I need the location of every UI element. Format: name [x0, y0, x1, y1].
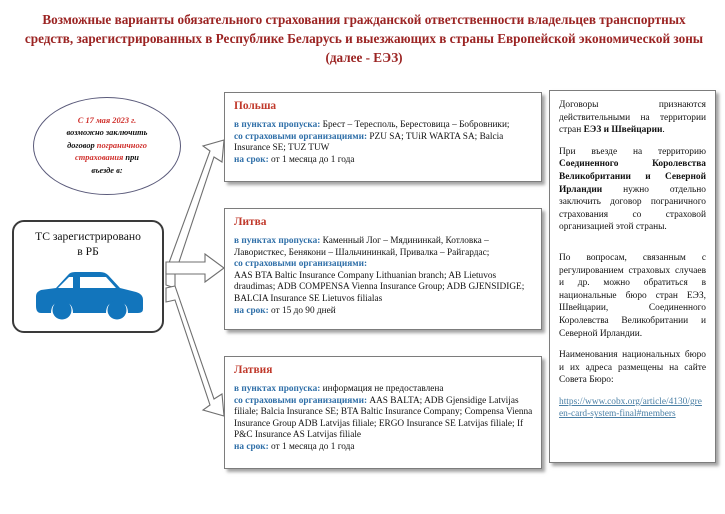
poland-label-term: на срок: [234, 155, 269, 165]
vehicle-registered-box: ТС зарегистрировано в РБ [12, 220, 164, 333]
vehicle-box-label: ТС зарегистрировано в РБ [14, 222, 162, 259]
condition-ellipse: С 17 мая 2023 г. возможно заключить дого… [33, 97, 181, 195]
condition-ellipse-text: С 17 мая 2023 г. возможно заключить дого… [47, 115, 167, 178]
poland-value-crossings: Брест – Тересполь, Берестовица – Бобровн… [320, 120, 509, 130]
vehicle-label-line-1: ТС зарегистрировано [35, 230, 141, 243]
latvia-value-term: от 1 месяца до 1 года [269, 442, 355, 452]
ellipse-line-2: возможно заключить [67, 128, 148, 137]
note-1-text-b: ЕЭЗ и Швейцарии [584, 125, 663, 135]
ellipse-line-3b: пограничного [97, 141, 147, 150]
page-title: Возможные варианты обязательного страхов… [18, 10, 710, 67]
lithuania-value-insurers: AAS BTA Baltic Insurance Company Lithuan… [234, 271, 524, 304]
lithuania-label-term: на срок: [234, 306, 269, 316]
note-paragraph-4: Наименования национальных бюро и их адре… [559, 349, 706, 387]
country-box-latvia: Латвия в пунктах пропуска: информация не… [224, 356, 542, 469]
country-title-latvia: Латвия [234, 364, 533, 376]
council-bureau-link[interactable]: https://www.cobx.org/article/4130/green-… [559, 397, 702, 420]
ellipse-line-1: С 17 мая 2023 г. [78, 116, 136, 125]
poland-value-term: от 1 месяца до 1 года [269, 155, 355, 165]
note-paragraph-link: https://www.cobx.org/article/4130/green-… [559, 396, 706, 421]
country-box-poland: Польша в пунктах пропуска: Брест – Терес… [224, 92, 542, 182]
latvia-value-crossings: информация не предоставлена [320, 384, 443, 394]
lithuania-label-crossings: в пунктах пропуска: [234, 236, 320, 246]
arrow-to-lithuania [166, 254, 224, 282]
notes-panel: Договоры признаются действительными на т… [549, 90, 716, 463]
country-body-lithuania: в пунктах пропуска: Каменный Лог – Мядин… [234, 236, 533, 317]
lithuania-label-insurers: со страховыми организациями: [234, 259, 367, 269]
arrow-to-latvia [166, 286, 224, 416]
lithuania-value-term: от 15 до 90 дней [269, 306, 336, 316]
vehicle-label-line-2: в РБ [77, 245, 98, 258]
note-1-text-c: . [662, 125, 664, 135]
car-icon [28, 266, 150, 324]
note-paragraph-2: При въезде на территорию Соединенного Ко… [559, 146, 706, 234]
country-box-lithuania: Литва в пунктах пропуска: Каменный Лог –… [224, 208, 542, 330]
ellipse-line-4a: страхования [75, 153, 123, 162]
country-title-lithuania: Литва [234, 216, 533, 228]
ellipse-line-5: въезде в: [91, 166, 122, 175]
ellipse-line-4b: при [123, 153, 139, 162]
note-paragraph-3: По вопросам, связанным с регулированием … [559, 252, 706, 340]
country-body-latvia: в пунктах пропуска: информация не предос… [234, 384, 533, 454]
infographic-canvas: Возможные варианты обязательного страхов… [0, 0, 725, 514]
latvia-label-crossings: в пунктах пропуска: [234, 384, 320, 394]
latvia-label-insurers: со страховыми организациями: [234, 396, 367, 406]
poland-label-insurers: со страховыми организациями: [234, 132, 367, 142]
country-title-poland: Польша [234, 100, 533, 112]
notes-spacer [559, 243, 706, 252]
latvia-label-term: на срок: [234, 442, 269, 452]
poland-label-crossings: в пунктах пропуска: [234, 120, 320, 130]
country-body-poland: в пунктах пропуска: Брест – Тересполь, Б… [234, 120, 533, 166]
ellipse-line-3a: договор [67, 141, 97, 150]
note-paragraph-1: Договоры признаются действительными на т… [559, 99, 706, 137]
note-2-text-a: При въезде на территорию [559, 147, 706, 157]
